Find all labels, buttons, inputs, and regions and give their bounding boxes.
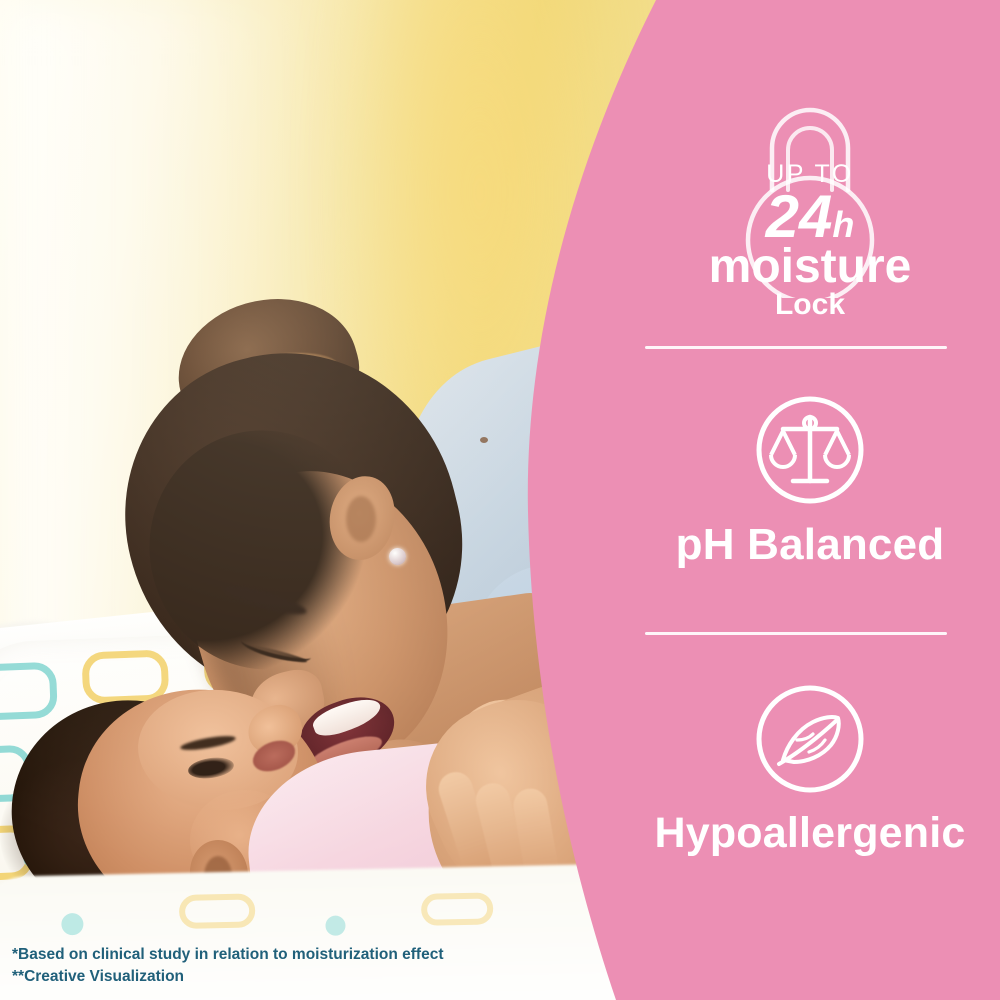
footnote-1: *Based on clinical study in relation to … [12,944,492,966]
mother-shoulder-mark [480,437,488,443]
feature-hypoallergenic: Hypoallergenic [620,682,1000,855]
ph-balanced-label: pH Balanced [620,523,1000,567]
feather-icon [753,682,867,796]
footnote-2: **Creative Visualization [12,966,492,988]
feature-moisture-lock: UP TO 24h moisture Lock [620,98,1000,313]
feature-ph-balanced: pH Balanced [620,393,1000,567]
mother-earring [389,548,406,565]
balance-scale-icon [753,393,867,507]
mother-ear-inner [346,496,376,542]
footnotes: *Based on clinical study in relation to … [12,944,492,988]
hours-unit: h [832,204,854,245]
divider-2 [645,632,947,635]
feature-list: UP TO 24h moisture Lock [620,0,1000,1000]
lock-label: Lock [620,290,1000,320]
hours-value: 24h [620,187,1000,247]
hypoallergenic-label: Hypoallergenic [620,812,1000,855]
divider-1 [645,346,947,349]
promo-banner: UP TO 24h moisture Lock [0,0,1000,1000]
moisture-label: moisture [620,243,1000,291]
